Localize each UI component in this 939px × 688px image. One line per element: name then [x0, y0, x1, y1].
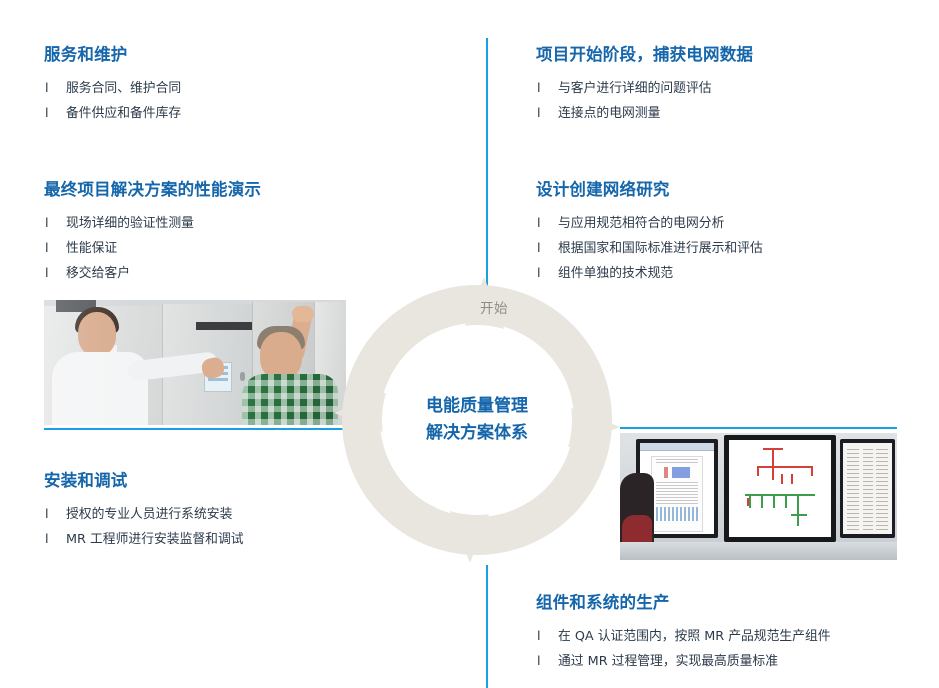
list-item: lMR 工程师进行安装监督和调试 — [44, 527, 244, 552]
cycle-start-label: 开始 — [480, 297, 508, 317]
monitor-screen-single-line-diagram — [729, 440, 831, 537]
list-item: l与应用规范相符合的电网分析 — [536, 211, 763, 236]
block-project-start-title: 项目开始阶段，捕获电网数据 — [536, 44, 753, 66]
list-item: l备件供应和备件库存 — [44, 101, 181, 126]
block-performance-demo-list: l现场详细的验证性测量 l性能保证 l移交给客户 — [44, 211, 261, 286]
list-item-label: 现场详细的验证性测量 — [66, 216, 194, 231]
list-item-label: 服务合同、维护合同 — [66, 81, 181, 96]
bullet-icon: l — [45, 211, 49, 236]
block-production: 组件和系统的生产 l在 QA 认证范围内，按照 MR 产品规范生产组件 l通过 … — [536, 592, 831, 674]
block-production-title: 组件和系统的生产 — [536, 592, 831, 614]
block-project-start-list: l与客户进行详细的问题评估 l连接点的电网测量 — [536, 76, 753, 126]
block-performance-demo: 最终项目解决方案的性能演示 l现场详细的验证性测量 l性能保证 l移交给客户 — [44, 179, 261, 286]
monitor-shape — [724, 435, 836, 542]
bullet-icon: l — [45, 76, 49, 101]
bullet-icon: l — [537, 101, 541, 126]
bullet-icon: l — [537, 624, 541, 649]
bullet-icon: l — [45, 236, 49, 261]
cycle-center-title: 电能质量管理 解决方案体系 — [377, 393, 577, 447]
desk-shape — [620, 542, 897, 560]
bullet-icon: l — [537, 649, 541, 674]
block-network-study: 设计创建网络研究 l与应用规范相符合的电网分析 l根据国家和国际标准进行展示和评… — [536, 179, 763, 286]
list-item-label: MR 工程师进行安装监督和调试 — [66, 532, 244, 547]
list-item-label: 通过 MR 过程管理，实现最高质量标准 — [558, 654, 778, 669]
block-production-list: l在 QA 认证范围内，按照 MR 产品规范生产组件 l通过 MR 过程管理，实… — [536, 624, 831, 674]
bullet-icon: l — [537, 76, 541, 101]
list-item-label: 备件供应和备件库存 — [66, 106, 181, 121]
list-item: l与客户进行详细的问题评估 — [536, 76, 753, 101]
vertical-divider-top — [486, 38, 488, 300]
list-item: l通过 MR 过程管理，实现最高质量标准 — [536, 649, 831, 674]
list-item: l在 QA 认证范围内，按照 MR 产品规范生产组件 — [536, 624, 831, 649]
list-item: l连接点的电网测量 — [536, 101, 753, 126]
monitor-screen-table-shape — [843, 443, 892, 534]
list-item-label: 根据国家和国际标准进行展示和评估 — [558, 241, 763, 256]
cycle-diagram: 电能质量管理 解决方案体系 — [334, 277, 620, 563]
horizontal-divider-right — [620, 427, 897, 429]
horizontal-divider-left — [44, 428, 346, 430]
list-item-label: 连接点的电网测量 — [558, 106, 660, 121]
list-item-label: 性能保证 — [66, 241, 117, 256]
block-service-list: l服务合同、维护合同 l备件供应和备件库存 — [44, 76, 181, 126]
block-network-study-list: l与应用规范相符合的电网分析 l根据国家和国际标准进行展示和评估 l组件单独的技… — [536, 211, 763, 286]
list-item-label: 移交给客户 — [66, 266, 130, 281]
list-item: l移交给客户 — [44, 261, 261, 286]
bullet-icon: l — [45, 527, 49, 552]
block-installation-list: l授权的专业人员进行系统安装 lMR 工程师进行安装监督和调试 — [44, 502, 244, 552]
list-item: l根据国家和国际标准进行展示和评估 — [536, 236, 763, 261]
list-item: l现场详细的验证性测量 — [44, 211, 261, 236]
block-network-study-title: 设计创建网络研究 — [536, 179, 763, 201]
page-canvas: 服务和维护 l服务合同、维护合同 l备件供应和备件库存 项目开始阶段，捕获电网数… — [0, 0, 939, 688]
list-item: l服务合同、维护合同 — [44, 76, 181, 101]
bullet-icon: l — [537, 211, 541, 236]
vertical-divider-bottom — [486, 565, 488, 688]
block-project-start: 项目开始阶段，捕获电网数据 l与客户进行详细的问题评估 l连接点的电网测量 — [536, 44, 753, 126]
block-installation-title: 安装和调试 — [44, 470, 244, 492]
monitor-shape — [840, 439, 895, 538]
list-item-label: 授权的专业人员进行系统安装 — [66, 507, 232, 522]
block-service: 服务和维护 l服务合同、维护合同 l备件供应和备件库存 — [44, 44, 181, 126]
block-service-title: 服务和维护 — [44, 44, 181, 66]
list-item: l授权的专业人员进行系统安装 — [44, 502, 244, 527]
bullet-icon: l — [537, 236, 541, 261]
bullet-icon: l — [45, 502, 49, 527]
list-item: l性能保证 — [44, 236, 261, 261]
bullet-icon: l — [45, 261, 49, 286]
bullet-icon: l — [45, 101, 49, 126]
block-performance-demo-title: 最终项目解决方案的性能演示 — [44, 179, 261, 201]
photo-technicians-at-switchgear — [44, 300, 346, 425]
block-installation: 安装和调试 l授权的专业人员进行系统安装 lMR 工程师进行安装监督和调试 — [44, 470, 244, 552]
photo-highlight-overlay — [44, 300, 346, 425]
list-item-label: 与客户进行详细的问题评估 — [558, 81, 712, 96]
photo-engineer-at-workstation — [620, 433, 897, 560]
list-item-label: 与应用规范相符合的电网分析 — [558, 216, 724, 231]
list-item-label: 在 QA 认证范围内，按照 MR 产品规范生产组件 — [558, 629, 831, 644]
